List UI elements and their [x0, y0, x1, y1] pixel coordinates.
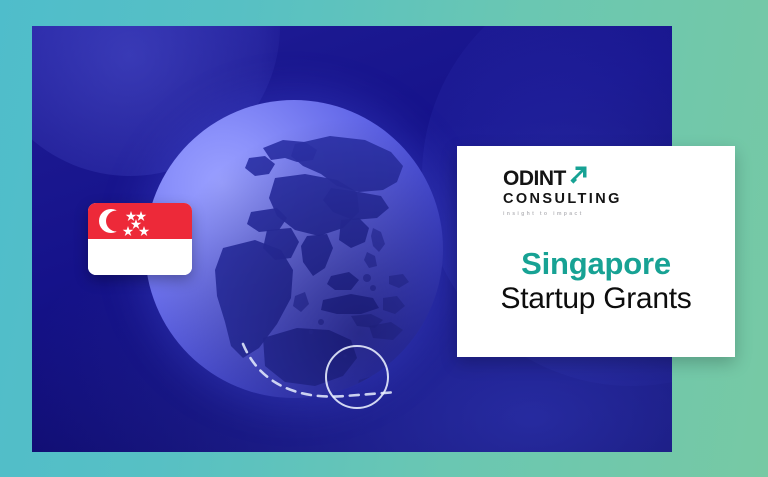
- odint-consulting-logo: ODINT CONSULTING insight to impact: [503, 168, 711, 217]
- headline-block: Singapore Startup Grants: [481, 247, 711, 317]
- singapore-location-ring: [325, 345, 389, 409]
- banner-canvas: ODINT CONSULTING insight to impact Singa…: [0, 0, 768, 477]
- headline-line-2: Startup Grants: [481, 282, 711, 316]
- crescent-moon-icon: [99, 209, 127, 233]
- logo-sub-brand-text: CONSULTING: [503, 192, 711, 207]
- singapore-flag: [88, 203, 192, 275]
- arrow-up-right-icon: [567, 164, 589, 186]
- title-card: ODINT CONSULTING insight to impact Singa…: [457, 146, 735, 357]
- headline-line-1: Singapore: [481, 247, 711, 280]
- logo-tagline-text: insight to impact: [503, 211, 711, 217]
- flag-emblem: [88, 203, 192, 239]
- flag-white-band: [88, 239, 192, 275]
- logo-brand-text: ODINT: [503, 168, 566, 189]
